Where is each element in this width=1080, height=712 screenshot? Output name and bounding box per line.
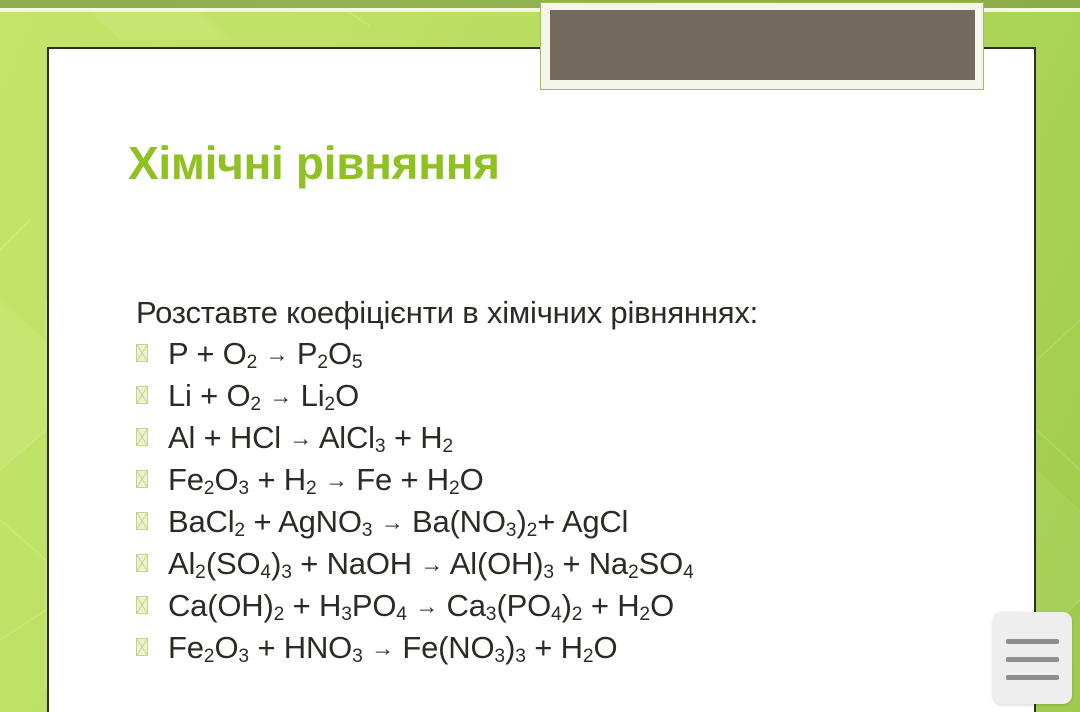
hamburger-menu-button[interactable] xyxy=(993,612,1072,704)
bullet-box-icon xyxy=(136,470,148,488)
equation-item: BaCl2 + AgNO3 → Ba(NO3)2+ AgCl xyxy=(136,501,996,543)
equation-text: Li + O2 → Li2O xyxy=(168,375,359,422)
equation-item: Li + O2 → Li2O xyxy=(136,375,996,417)
equation-list: P + O2 → P2O5Li + O2 → Li2OAl + HCl → Al… xyxy=(136,333,996,669)
intro-text: Розставте коефіцієнти в хімічних рівнянн… xyxy=(136,293,996,333)
equation-text: P + O2 → P2O5 xyxy=(168,333,363,380)
equation-item: Al + HCl → AlCl3 + H2 xyxy=(136,417,996,459)
bullet-box-icon xyxy=(136,428,148,446)
slide-content: Розставте коефіцієнти в хімічних рівнянн… xyxy=(136,293,996,669)
equation-text: Al + HCl → AlCl3 + H2 xyxy=(168,417,453,464)
bullet-box-icon xyxy=(136,554,148,572)
hamburger-bar-2 xyxy=(1006,657,1059,662)
presentation-slide: Хімічні рівняння Розставте коефіцієнти в… xyxy=(0,0,1080,712)
equation-text: Ca(OH)2 + H3PO4 → Ca3(PO4)2 + H2O xyxy=(168,585,674,632)
equation-text: BaCl2 + AgNO3 → Ba(NO3)2+ AgCl xyxy=(168,501,628,548)
slide-title: Хімічні рівняння xyxy=(128,136,500,190)
bullet-box-icon xyxy=(136,638,148,656)
bullet-box-icon xyxy=(136,596,148,614)
bullet-box-icon xyxy=(136,512,148,530)
equation-item: Fe2O3 + H2 → Fe + H2O xyxy=(136,459,996,501)
equation-item: Ca(OH)2 + H3PO4 → Ca3(PO4)2 + H2O xyxy=(136,585,996,627)
equation-text: Fe2O3 + HNO3 → Fe(NO3)3 + H2O xyxy=(168,627,617,674)
equation-text: Fe2O3 + H2 → Fe + H2O xyxy=(168,459,484,506)
header-block-brown xyxy=(550,10,975,80)
hamburger-bar-3 xyxy=(1006,675,1059,680)
bullet-box-icon xyxy=(136,386,148,404)
equation-item: Al2(SO4)3 + NaOH → Al(OH)3 + Na2SO4 xyxy=(136,543,996,585)
equation-text: Al2(SO4)3 + NaOH → Al(OH)3 + Na2SO4 xyxy=(168,543,694,590)
equation-item: P + O2 → P2O5 xyxy=(136,333,996,375)
hamburger-bar-1 xyxy=(1006,639,1059,644)
bullet-box-icon xyxy=(136,344,148,362)
equation-item: Fe2O3 + HNO3 → Fe(NO3)3 + H2O xyxy=(136,627,996,669)
